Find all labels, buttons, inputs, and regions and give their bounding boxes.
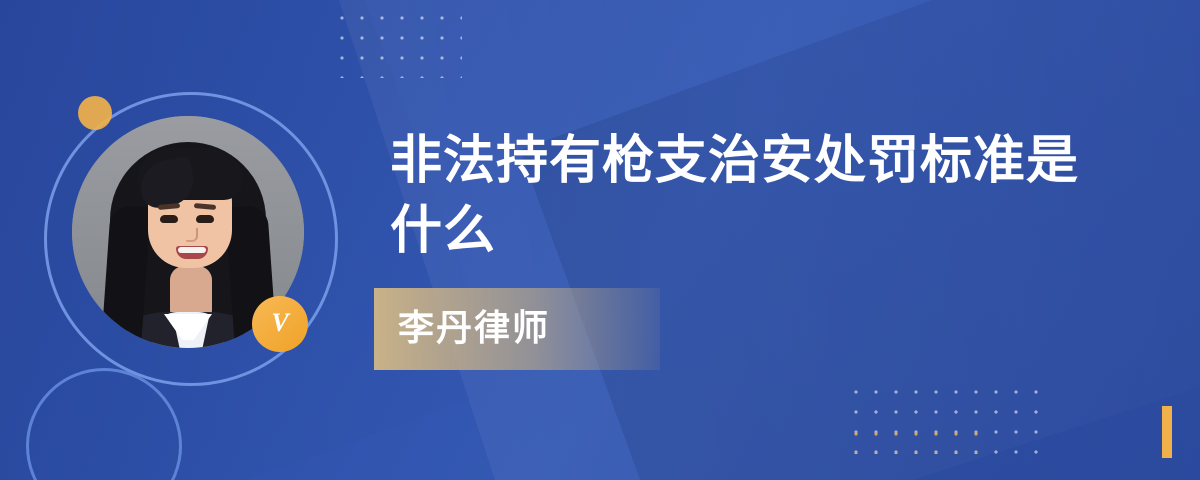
author-name: 李丹律师 [398,310,550,346]
nose [186,228,198,242]
verified-badge-icon: V [252,296,308,352]
mouth [176,246,208,259]
verified-badge-label: V [271,310,288,336]
lawyer-article-banner: V 非法持有枪支治安处罚标准是什么 李丹律师 [0,0,1200,480]
gold-accent-bar [1162,406,1172,458]
eye-right [196,215,214,223]
eye-left [160,215,178,223]
teeth [178,247,206,253]
dot-grid-bottom-gold-icon [846,424,986,454]
dot-grid-top-icon [332,8,462,78]
page-title: 非法持有枪支治安处罚标准是什么 [390,126,1130,266]
